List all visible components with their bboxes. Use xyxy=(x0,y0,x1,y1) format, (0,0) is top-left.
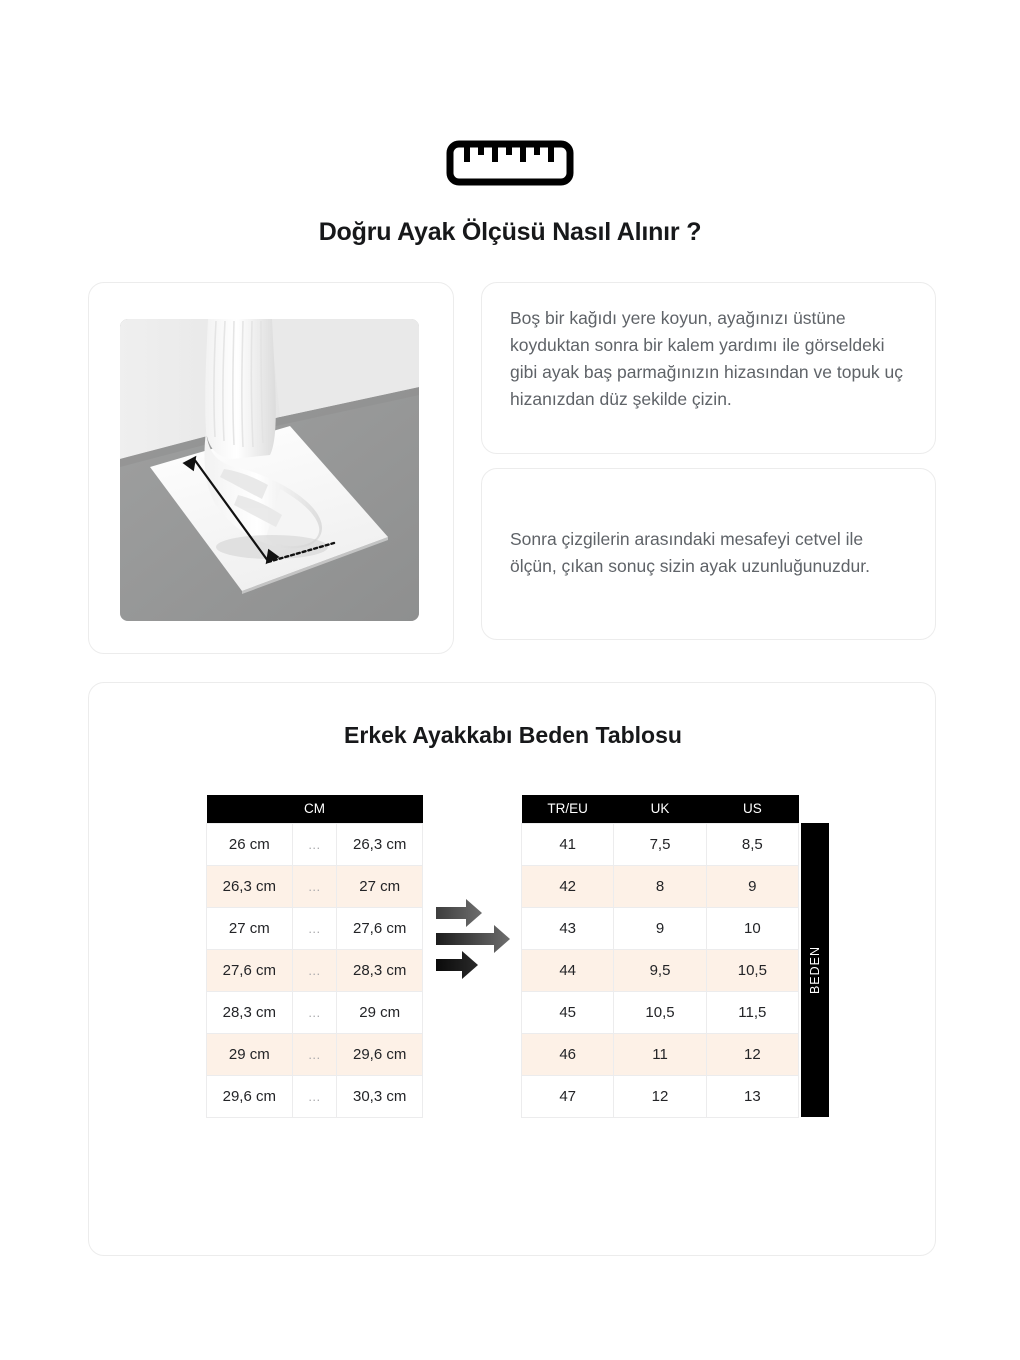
size-treu: 43 xyxy=(522,907,614,949)
table-row: 4289 xyxy=(522,865,799,907)
size-header-us: US xyxy=(706,795,798,823)
instruction-card-1: Boş bir kağıdı yere koyun, ayağınızı üst… xyxy=(481,282,936,454)
cm-separator: ... xyxy=(292,991,337,1033)
instruction-text-1: Boş bir kağıdı yere koyun, ayağınızı üst… xyxy=(510,305,909,413)
table-row: 29 cm...29,6 cm xyxy=(207,1033,423,1075)
cm-to: 26,3 cm xyxy=(337,823,423,865)
cm-separator: ... xyxy=(292,949,337,991)
table-row: 461112 xyxy=(522,1033,799,1075)
cm-separator: ... xyxy=(292,865,337,907)
size-header-treu: TR/EU xyxy=(522,795,614,823)
size-uk: 10,5 xyxy=(614,991,706,1033)
cm-separator: ... xyxy=(292,1033,337,1075)
instruction-card-2: Sonra çizgilerin arasındaki mesafeyi cet… xyxy=(481,468,936,640)
size-table-head: TR/EU UK US xyxy=(522,795,799,823)
cm-to: 28,3 cm xyxy=(337,949,423,991)
cm-table-body: 26 cm...26,3 cm26,3 cm...27 cm27 cm...27… xyxy=(207,823,423,1117)
cm-from: 26,3 cm xyxy=(207,865,293,907)
size-uk: 8 xyxy=(614,865,706,907)
size-uk: 11 xyxy=(614,1033,706,1075)
cm-from: 29,6 cm xyxy=(207,1075,293,1117)
size-uk: 9,5 xyxy=(614,949,706,991)
table-row: 27,6 cm...28,3 cm xyxy=(207,949,423,991)
cm-table: CM 26 cm...26,3 cm26,3 cm...27 cm27 cm..… xyxy=(206,795,423,1118)
cm-table-head: CM xyxy=(207,795,423,823)
foot-measurement-photo xyxy=(120,319,419,621)
arrows-icon xyxy=(436,895,514,985)
size-treu: 44 xyxy=(522,949,614,991)
size-uk: 7,5 xyxy=(614,823,706,865)
cm-to: 27 cm xyxy=(337,865,423,907)
cm-from: 28,3 cm xyxy=(207,991,293,1033)
cm-separator: ... xyxy=(292,823,337,865)
table-row: 26 cm...26,3 cm xyxy=(207,823,423,865)
table-row: 471213 xyxy=(522,1075,799,1117)
size-uk: 12 xyxy=(614,1075,706,1117)
table-row: 417,58,5 xyxy=(522,823,799,865)
ruler-icon xyxy=(446,140,574,191)
size-treu: 46 xyxy=(522,1033,614,1075)
beden-vertical-bar: BEDEN xyxy=(801,823,829,1117)
table-row: 29,6 cm...30,3 cm xyxy=(207,1075,423,1117)
table-row: 28,3 cm...29 cm xyxy=(207,991,423,1033)
cm-to: 29 cm xyxy=(337,991,423,1033)
illustration-card xyxy=(88,282,454,654)
page-title: Doğru Ayak Ölçüsü Nasıl Alınır ? xyxy=(0,218,1020,247)
size-us: 8,5 xyxy=(706,823,798,865)
cm-header-cell: CM xyxy=(207,795,423,823)
size-treu: 41 xyxy=(522,823,614,865)
cm-to: 29,6 cm xyxy=(337,1033,423,1075)
size-treu: 47 xyxy=(522,1075,614,1117)
table-row: 449,510,5 xyxy=(522,949,799,991)
size-header-row: TR/EU UK US xyxy=(522,795,799,823)
size-uk: 9 xyxy=(614,907,706,949)
size-us: 13 xyxy=(706,1075,798,1117)
cm-to: 30,3 cm xyxy=(337,1075,423,1117)
cm-header-row: CM xyxy=(207,795,423,823)
size-table-body: 417,58,5428943910449,510,54510,511,54611… xyxy=(522,823,799,1117)
size-table: TR/EU UK US 417,58,5428943910449,510,545… xyxy=(521,795,799,1118)
size-us: 10 xyxy=(706,907,798,949)
cm-from: 26 cm xyxy=(207,823,293,865)
size-us: 9 xyxy=(706,865,798,907)
cm-separator: ... xyxy=(292,1075,337,1117)
size-chart-card: Erkek Ayakkabı Beden Tablosu CM 26 cm...… xyxy=(88,682,936,1256)
cm-from: 27,6 cm xyxy=(207,949,293,991)
size-us: 11,5 xyxy=(706,991,798,1033)
table-row: 4510,511,5 xyxy=(522,991,799,1033)
cm-from: 29 cm xyxy=(207,1033,293,1075)
ruler-icon-container xyxy=(0,140,1020,191)
cm-separator: ... xyxy=(292,907,337,949)
size-header-uk: UK xyxy=(614,795,706,823)
table-row: 26,3 cm...27 cm xyxy=(207,865,423,907)
size-treu: 42 xyxy=(522,865,614,907)
cm-to: 27,6 cm xyxy=(337,907,423,949)
beden-label: BEDEN xyxy=(808,946,822,994)
size-us: 10,5 xyxy=(706,949,798,991)
table-row: 43910 xyxy=(522,907,799,949)
size-us: 12 xyxy=(706,1033,798,1075)
size-guide-page: Doğru Ayak Ölçüsü Nasıl Alınır ? xyxy=(0,0,1020,1360)
size-treu: 45 xyxy=(522,991,614,1033)
instruction-text-2: Sonra çizgilerin arasındaki mesafeyi cet… xyxy=(510,526,909,580)
size-chart-title: Erkek Ayakkabı Beden Tablosu xyxy=(89,722,937,749)
table-row: 27 cm...27,6 cm xyxy=(207,907,423,949)
cm-from: 27 cm xyxy=(207,907,293,949)
